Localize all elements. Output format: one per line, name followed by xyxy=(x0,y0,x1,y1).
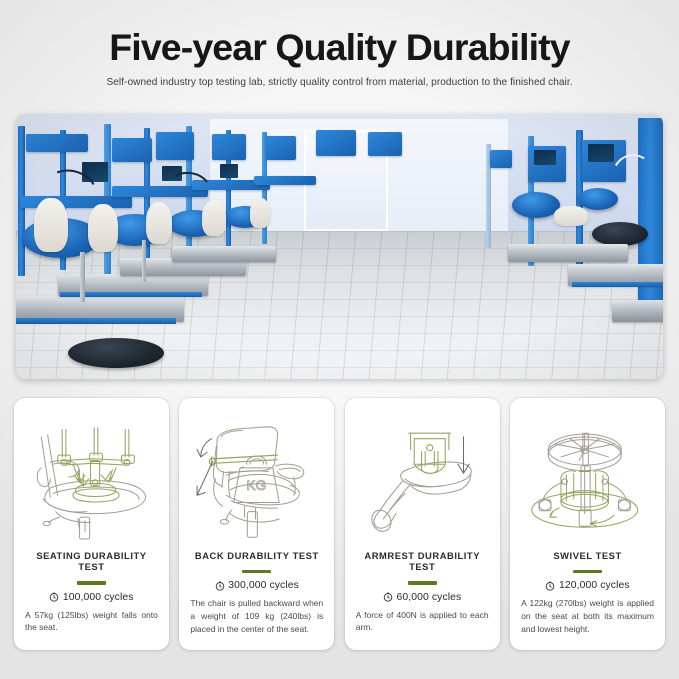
test-chair-seat xyxy=(554,206,588,226)
machine-base-stripe xyxy=(16,318,176,324)
card-divider xyxy=(408,581,437,585)
machine-display xyxy=(534,150,556,165)
test-card-seating[interactable]: SEATING DURABILITY TEST 100,000 cycles A… xyxy=(14,398,169,650)
card-description: A 57kg (125lbs) weight falls onto the se… xyxy=(23,609,160,635)
card-title: SEATING DURABILITY TEST xyxy=(23,550,160,573)
weight-stack xyxy=(68,338,164,368)
control-panel xyxy=(266,136,296,160)
card-description: The chair is pulled backward when a weig… xyxy=(188,597,325,636)
clock-icon xyxy=(215,581,225,591)
machine-frame xyxy=(638,118,663,318)
card-cycles-label: 120,000 cycles xyxy=(559,580,630,591)
backrest-pull-test-diagram: KG xyxy=(188,406,325,548)
control-panel xyxy=(112,138,152,162)
card-divider xyxy=(77,581,106,585)
test-chair-seat xyxy=(250,198,270,228)
card-cycles-label: 60,000 cycles xyxy=(397,592,462,603)
machine-display xyxy=(588,144,614,162)
machine-base xyxy=(172,246,276,262)
clock-icon xyxy=(49,592,59,602)
machine-base xyxy=(508,244,628,262)
test-chair-seat xyxy=(592,222,648,246)
card-divider xyxy=(573,570,602,574)
machine-base xyxy=(612,300,663,322)
test-chair-seat xyxy=(202,200,226,236)
test-card-armrest[interactable]: ARMREST DURABILITY TEST 60,000 cycles A … xyxy=(345,398,500,650)
card-title: SWIVEL TEST xyxy=(553,550,621,561)
card-cycles: 120,000 cycles xyxy=(545,580,629,591)
control-panel xyxy=(26,134,88,152)
card-cycles: 300,000 cycles xyxy=(215,580,299,591)
card-title: BACK DURABILITY TEST xyxy=(195,550,319,561)
control-panel xyxy=(368,132,402,156)
seat-drop-test-diagram xyxy=(23,406,160,548)
card-description: A force of 400N is applied to each arm. xyxy=(354,609,491,635)
machine-base-stripe xyxy=(572,282,663,287)
clock-icon xyxy=(383,592,393,602)
test-chair-seat xyxy=(88,204,118,252)
control-panel xyxy=(490,150,512,168)
card-cycles: 60,000 cycles xyxy=(383,592,461,603)
machine-display xyxy=(220,164,238,178)
weight-stack xyxy=(578,188,618,210)
clock-icon xyxy=(545,581,555,591)
test-cards-row: SEATING DURABILITY TEST 100,000 cycles A… xyxy=(14,398,665,650)
machine-arm xyxy=(254,176,316,185)
test-card-back[interactable]: KG BACK DURABILITY TEST 300,000 cycles T… xyxy=(179,398,334,650)
control-panel xyxy=(316,130,356,156)
kg-label: KG xyxy=(247,478,267,493)
page-subtitle: Self-owned industry top testing lab, str… xyxy=(0,77,679,88)
support-pole xyxy=(142,240,146,282)
armrest-press-test-diagram xyxy=(354,406,491,548)
card-cycles-label: 300,000 cycles xyxy=(228,580,299,591)
card-description: A 122kg (270lbs) weight is applied on th… xyxy=(519,597,656,636)
control-panel xyxy=(212,134,246,160)
page-title: Five-year Quality Durability xyxy=(0,27,679,68)
lab-photo xyxy=(16,114,663,379)
support-pole xyxy=(80,252,85,302)
lab-photo-scene xyxy=(16,114,663,379)
test-card-swivel[interactable]: SWIVEL TEST 120,000 cycles A 122kg (270l… xyxy=(510,398,665,650)
card-title: ARMREST DURABILITY TEST xyxy=(354,550,491,573)
card-cycles: 100,000 cycles xyxy=(49,592,133,603)
test-chair-seat xyxy=(146,202,172,244)
card-divider xyxy=(242,570,271,574)
card-cycles-label: 100,000 cycles xyxy=(63,592,134,603)
control-panel xyxy=(156,132,194,160)
page-header: Five-year Quality Durability Self-owned … xyxy=(0,0,679,88)
weight-stack xyxy=(512,192,560,218)
swivel-base-test-diagram xyxy=(519,406,656,548)
